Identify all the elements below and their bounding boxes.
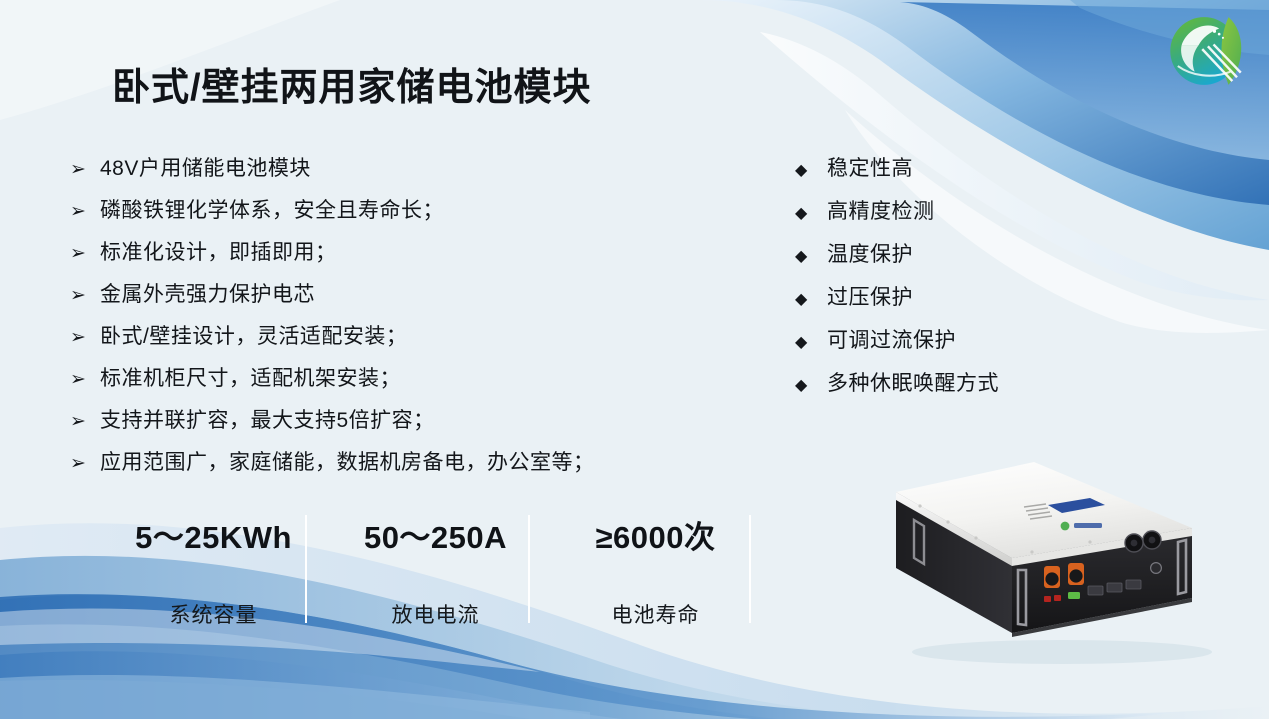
list-item: ➢ 磷酸铁锂化学体系，安全且寿命长；	[70, 194, 710, 236]
arrow-bullet-icon: ➢	[70, 328, 100, 347]
arrow-bullet-icon: ➢	[70, 370, 100, 389]
stat-cycle-life: ≥6000次 电池寿命	[548, 512, 763, 629]
stat-discharge-current: 50〜250A 放电电流	[328, 512, 543, 629]
list-item-label: 高精度检测	[827, 195, 935, 225]
diamond-bullet-icon: ◆	[795, 378, 827, 394]
list-item-label: 标准化设计，即插即用；	[100, 236, 337, 266]
list-item: ➢ 标准机柜尺寸，适配机架安装；	[70, 362, 710, 404]
stat-label: 电池寿命	[548, 599, 763, 629]
list-item-label: 稳定性高	[827, 152, 913, 182]
list-item-label: 48V户用储能电池模块	[100, 152, 311, 182]
spec-stats: 5〜25KWh 系统容量 50〜250A 放电电流 ≥6000次 电池寿命	[88, 512, 768, 627]
company-logo	[1159, 4, 1253, 98]
list-item: ➢ 卧式/壁挂设计，灵活适配安装；	[70, 320, 710, 362]
list-item-label: 标准机柜尺寸，适配机架安装；	[100, 362, 401, 392]
stat-capacity: 5〜25KWh 系统容量	[106, 512, 321, 629]
list-item: ◆ 稳定性高	[795, 152, 1125, 195]
product-image	[862, 448, 1254, 670]
list-item-label: 支持并联扩容，最大支持5倍扩容；	[100, 404, 435, 434]
list-item-label: 应用范围广，家庭储能，数据机房备电，办公室等；	[100, 446, 595, 476]
stat-label: 放电电流	[328, 599, 543, 629]
arrow-bullet-icon: ➢	[70, 286, 100, 305]
diamond-bullet-icon: ◆	[795, 335, 827, 351]
list-item: ◆ 可调过流保护	[795, 324, 1125, 367]
list-item: ◆ 过压保护	[795, 281, 1125, 324]
list-item: ➢ 48V户用储能电池模块	[70, 152, 710, 194]
list-item: ➢ 支持并联扩容，最大支持5倍扩容；	[70, 404, 710, 446]
stat-label: 系统容量	[106, 599, 321, 629]
list-item: ◆ 高精度检测	[795, 195, 1125, 238]
diamond-bullet-icon: ◆	[795, 163, 827, 179]
stat-value: 50〜250A	[328, 512, 543, 557]
list-item: ◆ 多种休眠唤醒方式	[795, 367, 1125, 410]
list-item: ➢ 标准化设计，即插即用；	[70, 236, 710, 278]
list-item-label: 卧式/壁挂设计，灵活适配安装；	[100, 320, 407, 350]
slide-canvas: 卧式/壁挂两用家储电池模块 ➢ 48V户用储能电池模块 ➢ 磷酸铁锂化学体系，安…	[0, 0, 1269, 719]
arrow-bullet-icon: ➢	[70, 412, 100, 431]
list-item-label: 多种休眠唤醒方式	[827, 367, 999, 397]
stat-value: ≥6000次	[548, 512, 763, 557]
list-item-label: 金属外壳强力保护电芯	[100, 278, 315, 308]
arrow-bullet-icon: ➢	[70, 454, 100, 473]
diamond-bullet-icon: ◆	[795, 206, 827, 222]
list-item-label: 温度保护	[827, 238, 913, 268]
page-title: 卧式/壁挂两用家储电池模块	[112, 56, 592, 111]
arrow-bullet-icon: ➢	[70, 160, 100, 179]
list-item-label: 可调过流保护	[827, 324, 956, 354]
list-item-label: 磷酸铁锂化学体系，安全且寿命长；	[100, 194, 444, 224]
feature-list-right: ◆ 稳定性高 ◆ 高精度检测 ◆ 温度保护 ◆ 过压保护 ◆ 可调过流保护 ◆ …	[795, 152, 1125, 410]
list-item: ➢ 金属外壳强力保护电芯	[70, 278, 710, 320]
diamond-bullet-icon: ◆	[795, 292, 827, 308]
list-item: ➢ 应用范围广，家庭储能，数据机房备电，办公室等；	[70, 446, 710, 488]
list-item: ◆ 温度保护	[795, 238, 1125, 281]
stat-value: 5〜25KWh	[106, 512, 321, 557]
list-item-label: 过压保护	[827, 281, 913, 311]
arrow-bullet-icon: ➢	[70, 244, 100, 263]
feature-list-left: ➢ 48V户用储能电池模块 ➢ 磷酸铁锂化学体系，安全且寿命长； ➢ 标准化设计…	[70, 152, 710, 488]
arrow-bullet-icon: ➢	[70, 202, 100, 221]
diamond-bullet-icon: ◆	[795, 249, 827, 265]
